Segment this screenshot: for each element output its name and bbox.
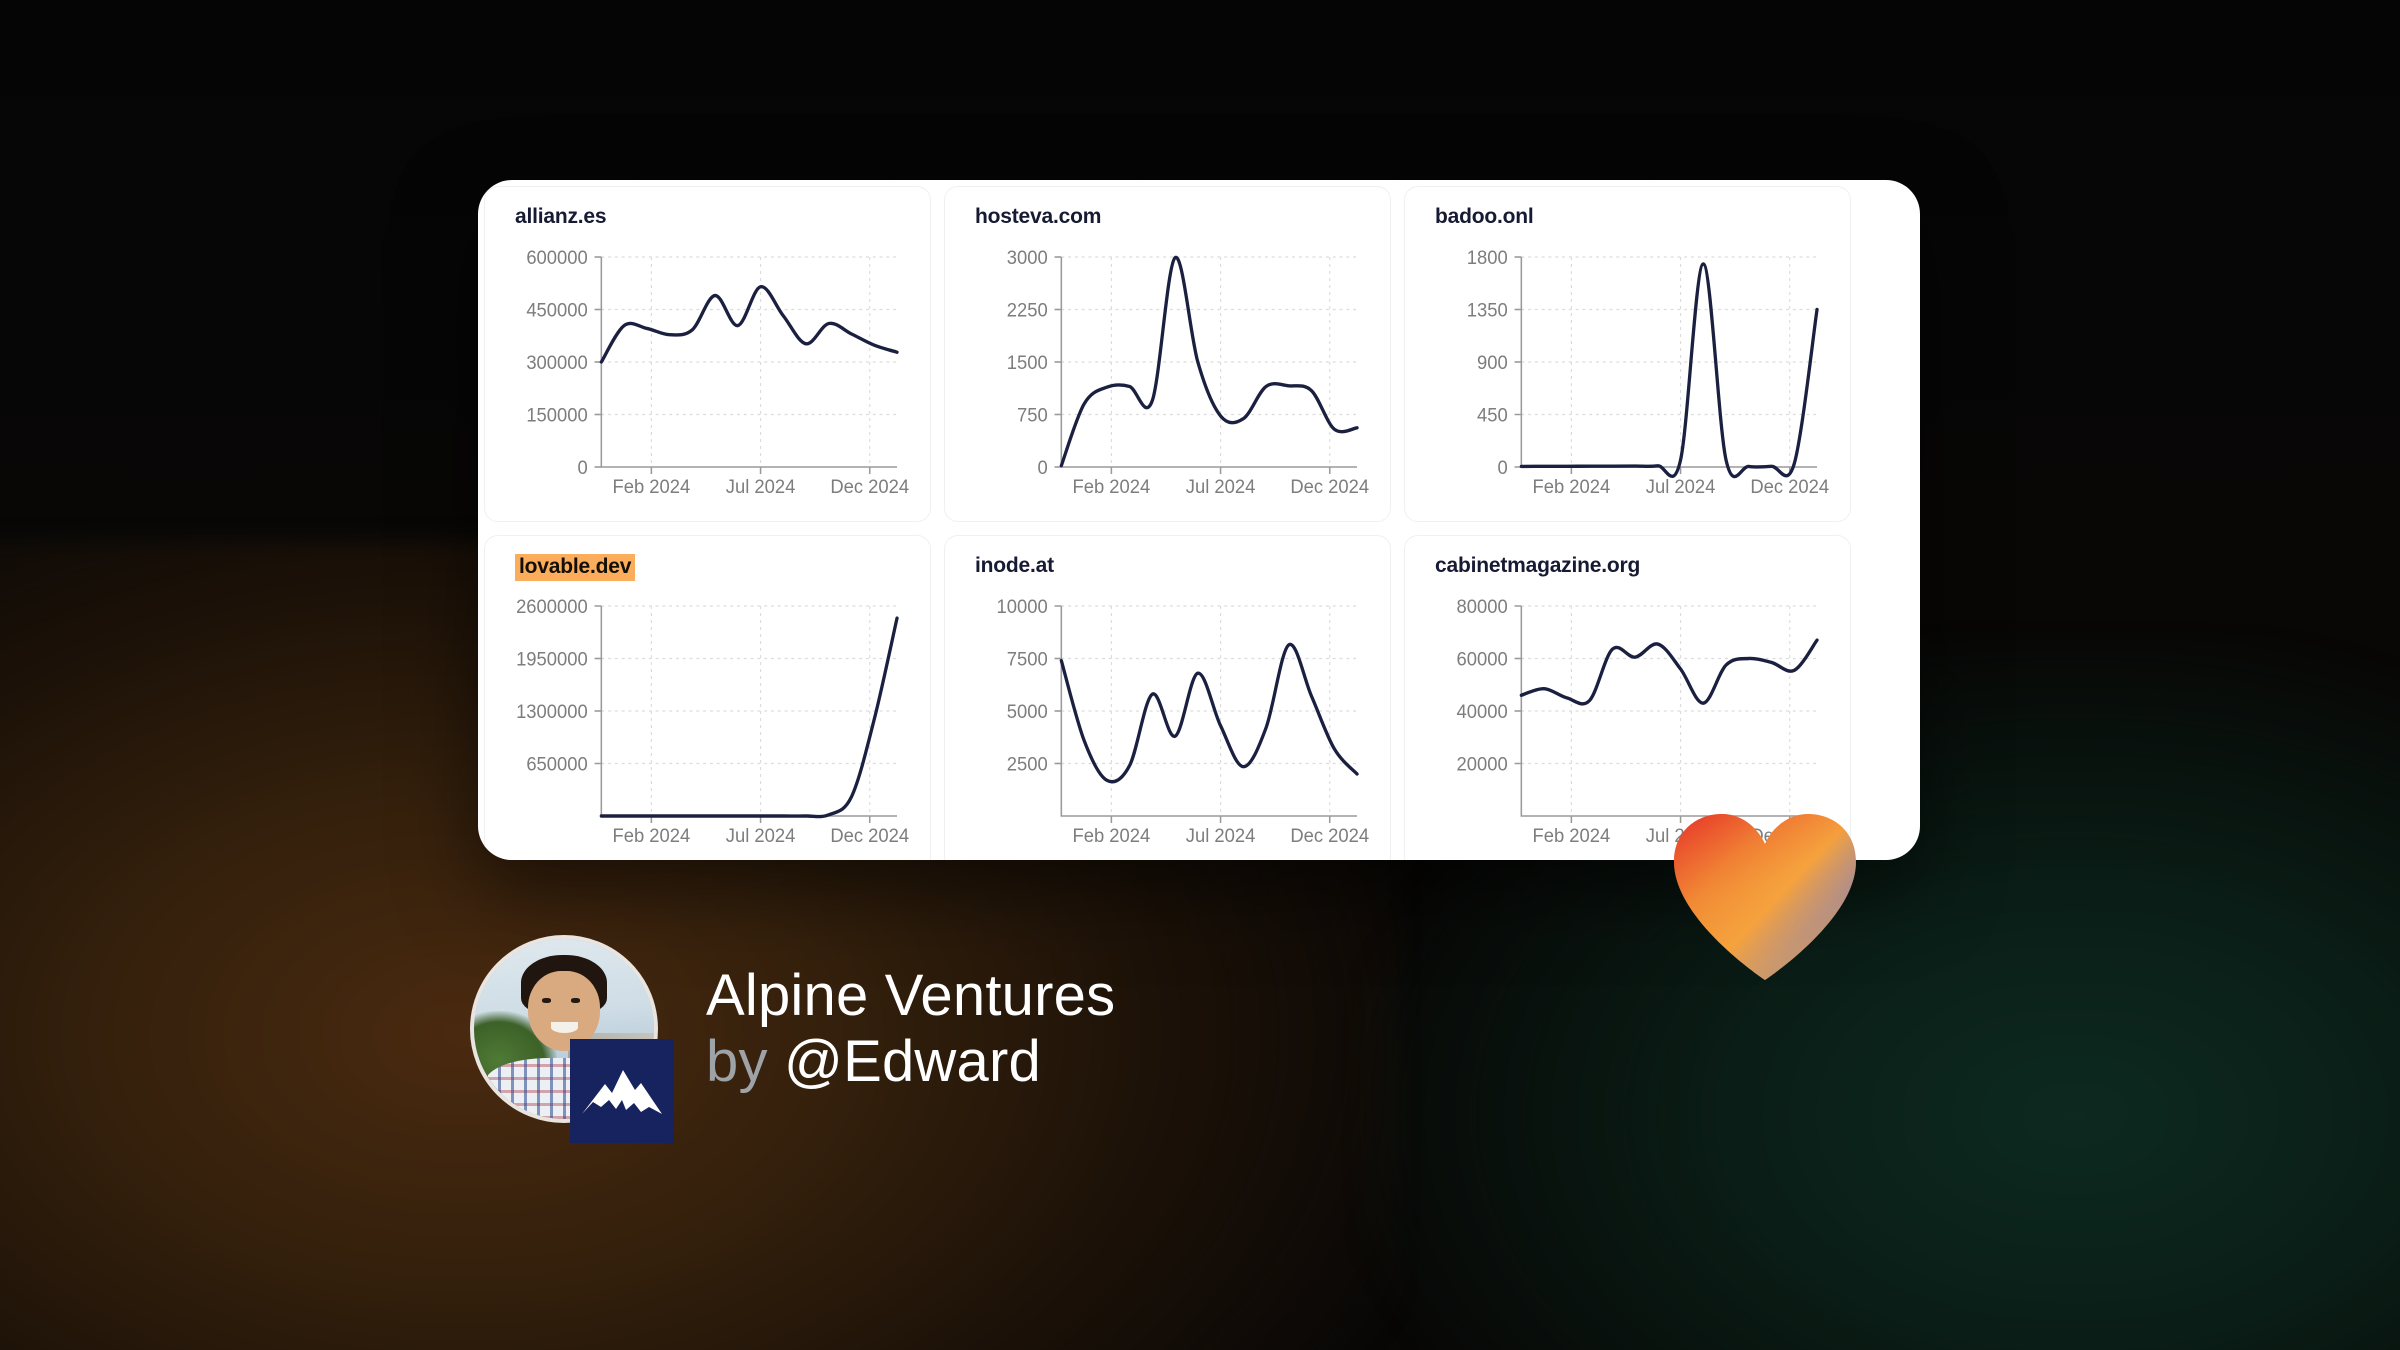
svg-text:Feb 2024: Feb 2024 [612, 825, 690, 846]
svg-text:60000: 60000 [1457, 648, 1508, 669]
panel-title: cabinetmagazine.org [1435, 554, 1640, 578]
plot-area: 650000130000019500002600000Feb 2024Jul 2… [485, 590, 930, 860]
panel-title: hosteva.com [975, 205, 1101, 229]
svg-text:2600000: 2600000 [516, 596, 588, 617]
svg-text:450000: 450000 [526, 299, 587, 320]
avatar-eye-right [571, 998, 580, 1003]
svg-text:10000: 10000 [997, 596, 1048, 617]
mountain-logo-icon [570, 1039, 674, 1143]
svg-text:Dec 2024: Dec 2024 [1750, 476, 1829, 497]
footer-text: Alpine Ventures by @Edward [706, 963, 1115, 1095]
plot-area: 0750150022503000Feb 2024Jul 2024Dec 2024 [945, 241, 1390, 513]
svg-text:750: 750 [1017, 404, 1048, 425]
svg-text:0: 0 [1038, 457, 1048, 478]
panel-title: lovable.dev [515, 554, 635, 581]
svg-text:150000: 150000 [526, 404, 587, 425]
chart-panel-inode-at[interactable]: inode.at25005000750010000Feb 2024Jul 202… [944, 535, 1391, 860]
panel-title: inode.at [975, 554, 1054, 578]
gradient-heart-icon [1670, 812, 1860, 982]
avatar-eye-left [542, 998, 551, 1003]
chart-panel-lovable-dev[interactable]: lovable.dev650000130000019500002600000Fe… [484, 535, 931, 860]
author-handle: @Edward [784, 1029, 1041, 1094]
svg-text:7500: 7500 [1007, 648, 1048, 669]
svg-text:3000: 3000 [1007, 247, 1048, 268]
chart-panel-hosteva-com[interactable]: hosteva.com0750150022503000Feb 2024Jul 2… [944, 186, 1391, 522]
svg-text:1300000: 1300000 [516, 701, 588, 722]
svg-text:2250: 2250 [1007, 299, 1048, 320]
svg-text:900: 900 [1477, 352, 1508, 373]
svg-text:Feb 2024: Feb 2024 [1532, 825, 1610, 846]
chart-panel-badoo-onl[interactable]: badoo.onl045090013501800Feb 2024Jul 2024… [1404, 186, 1851, 522]
panel-title: allianz.es [515, 205, 606, 229]
svg-text:1350: 1350 [1467, 299, 1508, 320]
svg-text:Jul 2024: Jul 2024 [1646, 476, 1716, 497]
svg-text:1950000: 1950000 [516, 648, 588, 669]
panel-title: badoo.onl [1435, 205, 1534, 229]
avatar-group [470, 935, 658, 1123]
svg-text:Jul 2024: Jul 2024 [1186, 825, 1256, 846]
svg-text:650000: 650000 [526, 753, 587, 774]
svg-text:Feb 2024: Feb 2024 [1072, 825, 1150, 846]
svg-text:Dec 2024: Dec 2024 [1290, 825, 1369, 846]
svg-text:2500: 2500 [1007, 753, 1048, 774]
svg-text:1500: 1500 [1007, 352, 1048, 373]
svg-text:20000: 20000 [1457, 753, 1508, 774]
svg-text:40000: 40000 [1457, 701, 1508, 722]
svg-text:1800: 1800 [1467, 247, 1508, 268]
svg-text:Dec 2024: Dec 2024 [830, 825, 909, 846]
avatar-smile [551, 1022, 578, 1033]
footer: Alpine Ventures by @Edward [470, 935, 1115, 1123]
svg-text:600000: 600000 [526, 247, 587, 268]
svg-text:300000: 300000 [526, 352, 587, 373]
charts-grid: allianz.es0150000300000450000600000Feb 2… [478, 180, 1857, 860]
svg-text:0: 0 [578, 457, 588, 478]
page-title: Alpine Ventures [706, 963, 1115, 1029]
svg-text:450: 450 [1477, 404, 1508, 425]
svg-text:Jul 2024: Jul 2024 [726, 825, 796, 846]
chart-panel-allianz-es[interactable]: allianz.es0150000300000450000600000Feb 2… [484, 186, 931, 522]
byline: by @Edward [706, 1029, 1115, 1095]
byline-prefix: by [706, 1029, 768, 1094]
svg-text:Feb 2024: Feb 2024 [1532, 476, 1610, 497]
svg-text:Jul 2024: Jul 2024 [1186, 476, 1256, 497]
svg-text:Dec 2024: Dec 2024 [830, 476, 909, 497]
plot-area: 25005000750010000Feb 2024Jul 2024Dec 202… [945, 590, 1390, 860]
plot-area: 0150000300000450000600000Feb 2024Jul 202… [485, 241, 930, 513]
svg-text:Feb 2024: Feb 2024 [612, 476, 690, 497]
svg-text:5000: 5000 [1007, 701, 1048, 722]
charts-card: allianz.es0150000300000450000600000Feb 2… [478, 180, 1920, 860]
svg-text:0: 0 [1498, 457, 1508, 478]
svg-text:80000: 80000 [1457, 596, 1508, 617]
svg-text:Feb 2024: Feb 2024 [1072, 476, 1150, 497]
svg-text:Dec 2024: Dec 2024 [1290, 476, 1369, 497]
plot-area: 045090013501800Feb 2024Jul 2024Dec 2024 [1405, 241, 1850, 513]
svg-text:Jul 2024: Jul 2024 [726, 476, 796, 497]
